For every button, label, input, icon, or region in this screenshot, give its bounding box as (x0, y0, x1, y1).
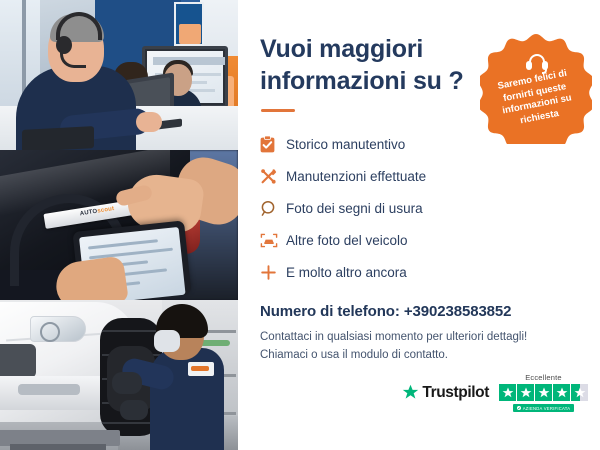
mechanic-face-mask (154, 330, 180, 352)
contact-text: Contattaci in qualsiasi momento per ulte… (260, 329, 582, 365)
star-filled (499, 384, 516, 401)
car-inspection-strip-photo: AUTOscout (0, 150, 238, 300)
verified-badge: AZIENDA VERIFICATA (513, 404, 575, 412)
title-divider (261, 109, 295, 112)
mechanic-badge (188, 362, 214, 376)
promo-panel: AUTOscout (0, 0, 600, 450)
trustpilot-widget[interactable]: Trustpilot Eccellente (402, 373, 588, 412)
trustpilot-stars (499, 384, 588, 401)
trustpilot-brand: Trustpilot (422, 384, 489, 402)
feature-item-foto-segni-usura: Foto dei segni di usura (260, 194, 582, 223)
feature-label: Altre foto del veicolo (286, 233, 408, 248)
wall-poster (174, 2, 204, 46)
trustpilot-rating: Eccellente (499, 373, 588, 412)
verified-label: AZIENDA VERIFICATA (523, 406, 571, 411)
feature-list: Storico manutentivo Manutenzioni effettu… (260, 130, 582, 287)
photo-column: AUTOscout (0, 0, 238, 450)
feature-label: Manutenzioni effettuate (286, 169, 426, 184)
feature-label: Storico manutentivo (286, 137, 405, 152)
car-lift-base (10, 444, 106, 450)
grille (0, 344, 36, 378)
clipboard-check-icon (260, 136, 286, 153)
page-title: Vuoi maggiori informazioni su ? (260, 34, 475, 97)
contact-line-2: Chiamaci o usa il modulo di contatto. (260, 347, 582, 365)
feature-item-manutenzioni-effettuate: Manutenzioni effettuate (260, 162, 582, 191)
feature-item-altre-foto-veicolo: Altre foto del veicolo (260, 226, 582, 255)
star-half (571, 384, 588, 401)
call-center-agents-photo (0, 0, 238, 150)
mechanic-glove-upper (112, 372, 142, 394)
magnifier-icon (260, 200, 286, 217)
headlight (30, 316, 86, 342)
star-filled (553, 384, 570, 401)
desk-tablet (22, 126, 94, 150)
callout-badge: Saremo felici di fornirti queste informa… (480, 32, 592, 144)
phone-line: Numero di telefono: +390238583852 (260, 303, 582, 320)
check-circle-icon (517, 406, 521, 410)
headline-line-2: informazioni su ? (260, 67, 464, 95)
mechanic-wheel-photo (0, 300, 238, 450)
strip-logo: AUTOscout (79, 206, 114, 217)
agent-front-hand (136, 112, 162, 132)
phone-number[interactable]: +390238583852 (404, 303, 512, 320)
trustpilot-logo: Trustpilot (402, 384, 489, 402)
trustpilot-star-icon (402, 384, 419, 401)
car-scan-icon (260, 232, 286, 249)
mechanic-glove-lower (120, 400, 148, 420)
fog-light-vent (18, 384, 80, 395)
headline-line-1: Vuoi maggiori (260, 35, 423, 63)
star-filled (517, 384, 534, 401)
feature-label: Foto dei segni di usura (286, 201, 423, 216)
feature-label: E molto altro ancora (286, 265, 407, 280)
trustpilot-rating-label: Eccellente (525, 373, 562, 382)
tools-cross-icon (260, 168, 286, 185)
plus-icon (260, 264, 286, 281)
feature-item-molto-altro: E molto altro ancora (260, 258, 582, 287)
star-filled (535, 384, 552, 401)
content-panel: Vuoi maggiori informazioni su ? Saremo f… (238, 0, 600, 450)
contact-line-1: Contattaci in qualsiasi momento per ulte… (260, 329, 582, 347)
shelf-item (200, 340, 230, 346)
phone-label: Numero di telefono: (260, 303, 400, 320)
